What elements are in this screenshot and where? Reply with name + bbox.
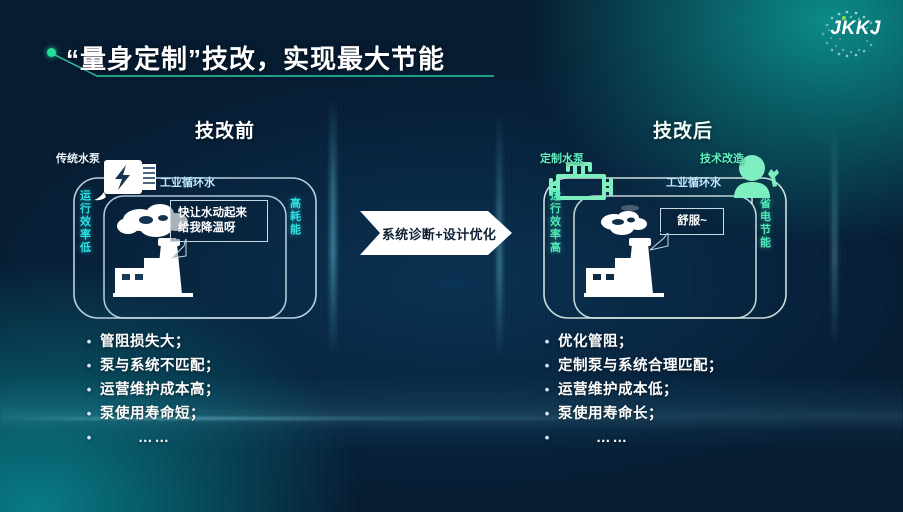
bullet-dot: • (78, 330, 100, 353)
label-before-efficiency: 运行效率低 (78, 190, 93, 255)
list-item: •…… (536, 426, 856, 450)
panel-before-title: 技改前 (60, 116, 390, 143)
bullet-text: 运营维护成本低； (558, 379, 678, 402)
bullet-dot: • (536, 402, 558, 425)
bubble-after-tail (646, 232, 676, 252)
label-after-pipe: 工业循环水 (666, 174, 721, 190)
label-before-pump: 传统水泵 (56, 150, 100, 166)
list-item: •泵与系统不匹配； (78, 354, 398, 378)
list-item: •定制泵与系统合理匹配； (536, 354, 856, 378)
bullets-after: •优化管阻； •定制泵与系统合理匹配； •运营维护成本低； •泵使用寿命长； •… (536, 330, 856, 450)
bullet-dot: • (536, 426, 558, 449)
bullet-dot: • (78, 378, 100, 401)
label-after-tech: 技术改造 (700, 150, 744, 166)
page-title: “量身定制”技改，实现最大节能 (66, 39, 445, 76)
label-before-energy: 高耗能 (288, 198, 303, 237)
bullet-text: 运营维护成本高； (100, 379, 220, 402)
title-accent-dot (47, 48, 56, 57)
diagram-after (518, 146, 848, 326)
bullet-text: 泵使用寿命长； (558, 403, 663, 426)
bullet-text: 定制泵与系统合理匹配； (558, 355, 723, 378)
slide-canvas: “量身定制”技改，实现最大节能 JKKJ 技改前 (0, 0, 903, 512)
label-after-pump: 定制水泵 (540, 150, 584, 166)
panel-after: 技改后 (518, 108, 848, 438)
process-arrow-label: 系统诊断+设计优化 (360, 211, 512, 255)
bullet-text: 泵使用寿命短； (100, 403, 205, 426)
bubble-before-tail (170, 238, 200, 260)
bullet-text: 泵与系统不匹配； (100, 355, 220, 378)
list-item: •泵使用寿命短； (78, 402, 398, 426)
bullet-text: …… (596, 427, 629, 450)
list-item: •管阻损失大； (78, 330, 398, 354)
bullet-dot: • (536, 378, 558, 401)
panel-after-title: 技改后 (518, 116, 848, 143)
label-before-pipe: 工业循环水 (160, 174, 215, 190)
bullet-dot: • (536, 354, 558, 377)
diagram-after-svg (518, 146, 848, 326)
list-item: •…… (78, 426, 398, 450)
bubble-before: 快让水动起来 给我降温呀 (170, 200, 268, 242)
list-item: •运营维护成本高； (78, 378, 398, 402)
bullet-dot: • (78, 354, 100, 377)
panel-before: 技改前 (60, 108, 390, 438)
bullet-dot: • (536, 330, 558, 353)
logo-wordmark: JKKJ (830, 18, 881, 40)
bullet-text: …… (138, 427, 171, 450)
bullet-dot: • (78, 402, 100, 425)
bullet-text: 管阻损失大； (100, 331, 190, 354)
bubble-after: 舒服~ (660, 208, 724, 235)
label-after-saving: 省电节能 (758, 198, 773, 250)
bullet-text: 优化管阻； (558, 331, 633, 354)
bullets-before: •管阻损失大； •泵与系统不匹配； •运营维护成本高； •泵使用寿命短； •…… (78, 330, 398, 450)
bullet-dot: • (78, 426, 100, 449)
list-item: •优化管阻； (536, 330, 856, 354)
label-after-efficiency: 运行效率高 (548, 190, 563, 255)
list-item: •泵使用寿命长； (536, 402, 856, 426)
list-item: •运营维护成本低； (536, 378, 856, 402)
